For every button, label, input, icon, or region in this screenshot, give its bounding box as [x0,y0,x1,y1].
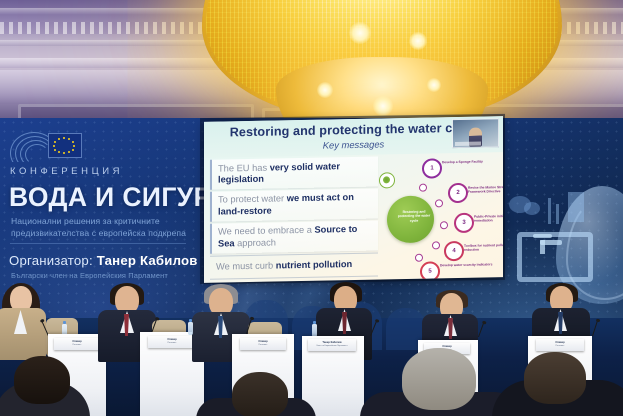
key-messages-list: The EU has very solid water legislationT… [210,157,378,283]
organizer-name: Танер Кабилов [97,253,198,268]
diagram-node-number: 3 [462,220,465,226]
tree-icon [524,202,540,215]
nameplate-6: Спикер Панелист [536,339,584,351]
message-tail: approach [235,237,276,248]
european-parliament-logo [8,128,84,162]
presentation-slide: Restoring and protecting the water cycle… [204,116,503,283]
diagram-node-number: 2 [456,190,459,196]
eu-flag-icon [48,133,82,158]
nameplate-1: Спикер Панелист [54,338,100,350]
key-message-4: We must curb nutrient pollution [210,252,378,276]
diagram-node-3: 3 [454,213,474,233]
torso [0,308,46,360]
conference-photo: КОНФЕРЕНЦИЯ ВОДА И СИГУРНОСТ Национални … [0,0,623,416]
nameplate-role: Член на Европейския Парламент [308,345,356,347]
audience-head-1 [402,348,476,410]
faucet-spout-icon [540,240,562,245]
banner-subtitle: Национални решения за критичните предизв… [11,216,196,239]
diagram-connector-dot [435,199,443,207]
nameplate-name: Спикер [240,340,286,343]
diagram-core: Restoring and protecting the water cycle [387,195,434,243]
diagram-node-number: 5 [428,268,431,274]
nameplate-name: Спикер [536,341,584,344]
video-name-tag [455,142,481,146]
audience-head-2 [524,352,586,404]
diagram-core-badge-icon [379,172,395,188]
video-call-thumbnail [452,118,499,148]
message-lead: We need to embrace a [218,225,314,237]
diagram-node-number: 4 [452,248,455,254]
water-bottle [188,322,193,335]
diagram-label-5: Develop water scarcity indicators [440,262,498,267]
nameplate-name: Спикер [148,338,196,341]
diagram-label-1: Develop a Sponge Facility [442,159,500,164]
chandelier-bulb [373,96,393,116]
nameplate-4: Танер Кабилов Член на Европейския Парлам… [308,339,356,351]
chandelier-bulb [349,22,371,44]
nameplate-name: Спикер [54,340,100,343]
key-message-2: To protect water we must act on land-res… [210,188,378,221]
key-message-3: We need to embrace a Source to Sea appro… [210,220,378,253]
diagram-connector-dot [432,241,440,249]
diagram-label-2: Revise the Marine Strategy Framework Dir… [468,185,503,195]
organizer-line: Организатор: Танер Кабилов [9,253,198,268]
nameplate-role: Панелист [240,344,286,346]
organizer-label: Организатор: [9,253,93,268]
diagram-node-1: 1 [422,158,442,178]
message-lead: To protect water [218,194,287,205]
nameplate-3: Спикер Панелист [240,338,286,350]
tower-icon [556,204,559,224]
banner-kicker: КОНФЕРЕНЦИЯ [10,166,123,177]
chandelier-bulb [427,78,441,92]
diagram-label-4: Toolbox for nutrient pollution reduction [464,243,503,253]
water-cycle-diagram: Restoring and protecting the water cycle… [382,154,503,279]
key-message-1: The EU has very solid water legislation [210,157,378,190]
faucet-handle-icon [533,234,552,238]
chandelier-bulb [317,82,333,98]
diagram-label-3: Public-Private initiative for PFAs remed… [474,214,503,224]
diagram-connector-dot [419,184,427,192]
nameplate-role: Панелист [54,344,100,346]
nameplate-role: Панелист [148,342,196,344]
audience-head-3 [232,372,288,416]
diagram-node-number: 1 [430,165,433,171]
diagram-node-2: 2 [448,183,468,203]
organizer-role: Български член на Европейския Парламент [11,271,168,280]
chandelier-bulb [409,32,427,50]
nameplate-role: Панелист [536,345,584,347]
message-highlight: nutrient pollution [276,259,352,270]
tower-icon [548,198,551,224]
audience-head-4 [14,356,70,404]
nameplate-2: Спикер Панелист [148,336,196,348]
diagram-connector-dot [415,254,423,262]
message-lead: We must curb [216,260,276,271]
message-lead: The EU has [218,162,270,173]
diagram-core-label: Restoring and protecting the water cycle [397,210,431,224]
diagram-connector-dot [440,221,448,229]
diagram-node-4: 4 [444,241,464,261]
banner-divider [10,243,186,244]
panel-table-4: Танер Кабилов Член на Европейския Парлам… [302,336,364,416]
nameplate-name: Танер Кабилов [308,341,356,344]
building-icon [568,192,584,222]
